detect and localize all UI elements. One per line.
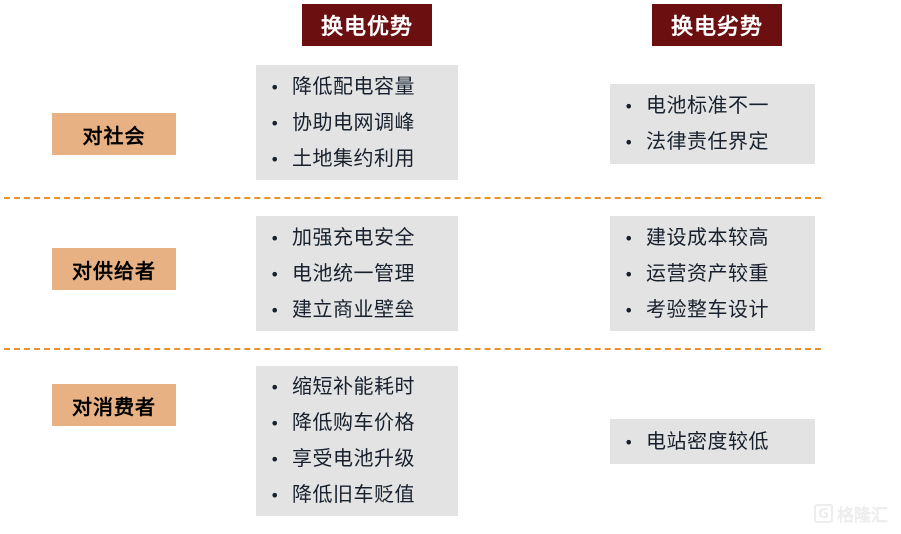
bullet-item: •加强充电安全 — [270, 220, 458, 256]
bullet-item-label: 考验整车设计 — [646, 292, 769, 326]
row-label-consumer: 对消费者 — [52, 384, 176, 426]
bullet-point-icon: • — [270, 443, 292, 477]
bullet-item-label: 电池统一管理 — [292, 256, 415, 290]
row-label-society: 对社会 — [52, 113, 176, 155]
bullet-item-label: 土地集约利用 — [292, 141, 415, 175]
bullet-list: •缩短补能耗时•降低购车价格•享受电池升级•降低旧车贬值 — [270, 369, 458, 513]
bullet-item-label: 缩短补能耗时 — [292, 369, 415, 403]
row-label-supplier-text: 对供给者 — [72, 255, 156, 284]
bullet-item: •电池标准不一 — [624, 88, 815, 124]
row-label-supplier: 对供给者 — [52, 248, 176, 290]
cell-advantage-society: •降低配电容量•协助电网调峰•土地集约利用 — [256, 65, 458, 180]
bullet-point-icon: • — [270, 407, 292, 441]
bullet-item: •建立商业壁垒 — [270, 292, 458, 328]
bullet-item-label: 加强充电安全 — [292, 220, 415, 254]
bullet-list: •电池标准不一•法律责任界定 — [624, 88, 815, 160]
cell-advantage-supplier: •加强充电安全•电池统一管理•建立商业壁垒 — [256, 216, 458, 331]
bullet-item-label: 降低购车价格 — [292, 405, 415, 439]
column-header-drawback-label: 换电劣势 — [671, 9, 763, 41]
bullet-point-icon: • — [270, 222, 292, 256]
watermark-label: 格隆汇 — [837, 501, 888, 526]
column-header-drawback: 换电劣势 — [652, 4, 782, 46]
bullet-point-icon: • — [624, 222, 646, 256]
comparison-matrix: 换电优势 换电劣势 对社会 对供给者 对消费者 •降低配电容量•协助电网调峰•土… — [0, 0, 901, 534]
row-label-consumer-text: 对消费者 — [72, 391, 156, 420]
bullet-point-icon: • — [624, 90, 646, 124]
bullet-point-icon: • — [270, 479, 292, 513]
bullet-item-label: 运营资产较重 — [646, 256, 769, 290]
column-header-advantage: 换电优势 — [302, 4, 432, 46]
bullet-item-label: 建立商业壁垒 — [292, 292, 415, 326]
bullet-point-icon: • — [270, 143, 292, 177]
bullet-point-icon: • — [270, 294, 292, 328]
bullet-item: •降低配电容量 — [270, 69, 458, 105]
bullet-list: •电站密度较低 — [624, 424, 815, 460]
bullet-item: •电站密度较低 — [624, 424, 815, 460]
bullet-item: •缩短补能耗时 — [270, 369, 458, 405]
bullet-item: •考验整车设计 — [624, 292, 815, 328]
bullet-point-icon: • — [624, 294, 646, 328]
row-divider-2 — [4, 348, 821, 350]
bullet-item-label: 法律责任界定 — [646, 124, 769, 158]
bullet-item: •土地集约利用 — [270, 141, 458, 177]
bullet-point-icon: • — [624, 126, 646, 160]
bullet-point-icon: • — [270, 107, 292, 141]
bullet-item-label: 电池标准不一 — [646, 88, 769, 122]
bullet-point-icon: • — [270, 371, 292, 405]
bullet-item-label: 电站密度较低 — [646, 424, 769, 458]
column-header-advantage-label: 换电优势 — [321, 9, 413, 41]
bullet-item-label: 享受电池升级 — [292, 441, 415, 475]
bullet-item: •享受电池升级 — [270, 441, 458, 477]
bullet-list: •降低配电容量•协助电网调峰•土地集约利用 — [270, 69, 458, 177]
bullet-item: •运营资产较重 — [624, 256, 815, 292]
bullet-list: •加强充电安全•电池统一管理•建立商业壁垒 — [270, 220, 458, 328]
brand-logo-icon: G — [814, 504, 833, 523]
bullet-item: •降低购车价格 — [270, 405, 458, 441]
cell-drawback-supplier: •建设成本较高•运营资产较重•考验整车设计 — [610, 216, 815, 331]
bullet-item: •法律责任界定 — [624, 124, 815, 160]
bullet-point-icon: • — [270, 258, 292, 292]
bullet-point-icon: • — [624, 258, 646, 292]
bullet-item: •建设成本较高 — [624, 220, 815, 256]
bullet-point-icon: • — [270, 71, 292, 105]
row-label-society-text: 对社会 — [83, 120, 146, 149]
bullet-item: •电池统一管理 — [270, 256, 458, 292]
bullet-item-label: 降低旧车贬值 — [292, 477, 415, 511]
watermark: G 格隆汇 — [814, 501, 888, 526]
cell-advantage-consumer: •缩短补能耗时•降低购车价格•享受电池升级•降低旧车贬值 — [256, 366, 458, 516]
cell-drawback-consumer: •电站密度较低 — [610, 419, 815, 464]
bullet-item: •协助电网调峰 — [270, 105, 458, 141]
bullet-list: •建设成本较高•运营资产较重•考验整车设计 — [624, 220, 815, 328]
bullet-item: •降低旧车贬值 — [270, 477, 458, 513]
bullet-item-label: 降低配电容量 — [292, 69, 415, 103]
bullet-point-icon: • — [624, 426, 646, 460]
bullet-item-label: 建设成本较高 — [646, 220, 769, 254]
cell-drawback-society: •电池标准不一•法律责任界定 — [610, 84, 815, 164]
row-divider-1 — [4, 197, 821, 199]
bullet-item-label: 协助电网调峰 — [292, 105, 415, 139]
